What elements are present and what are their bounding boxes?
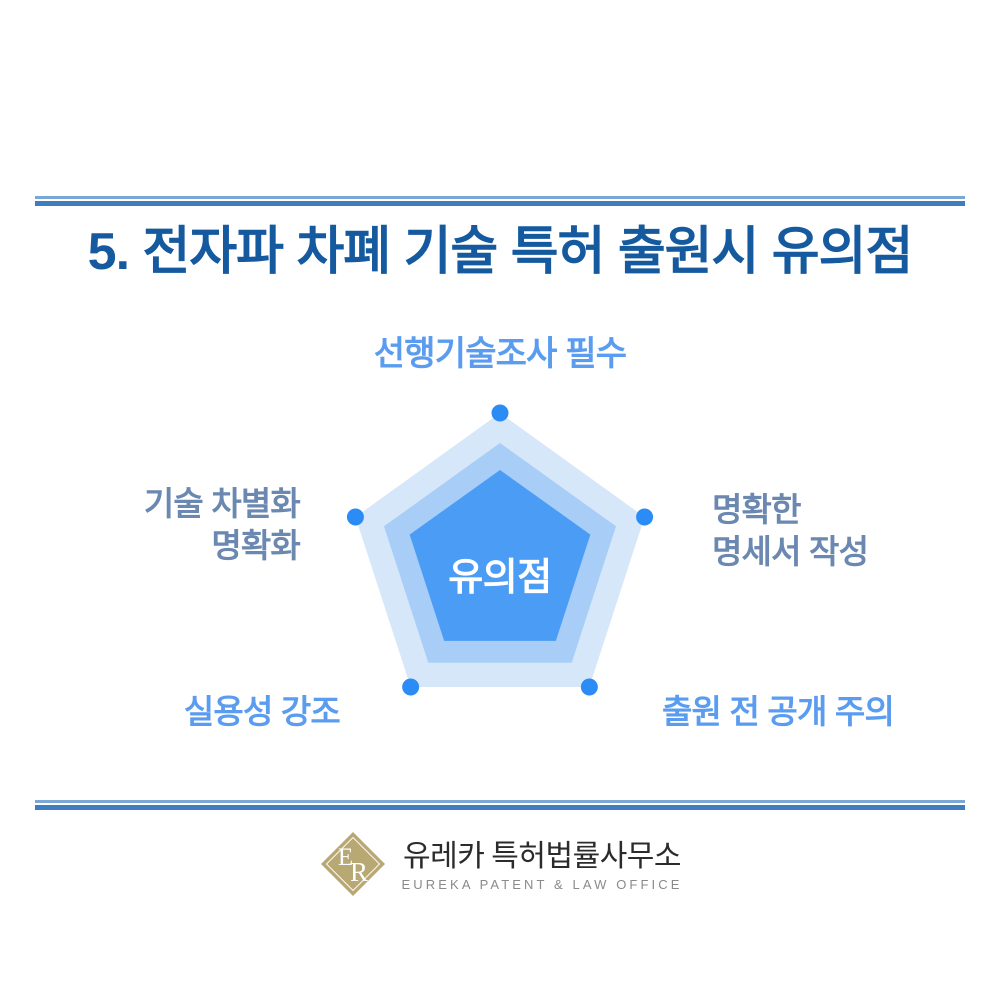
company-name-en: EUREKA PATENT & LAW OFFICE xyxy=(402,878,683,891)
footer-logo: E R 유레카 특허법률사무소 EUREKA PATENT & LAW OFFI… xyxy=(0,824,1000,904)
divider-bottom xyxy=(35,800,965,812)
eureka-diamond-logo-icon: E R xyxy=(318,829,388,899)
vertex-label-tech-differentiation: 기술 차별화 명확화 xyxy=(20,483,300,567)
divider-top-thick-rule xyxy=(35,201,965,206)
divider-top xyxy=(35,196,965,208)
company-name-ko: 유레카 특허법률사무소 xyxy=(403,840,681,873)
vertex-dot-top[interactable] xyxy=(492,405,509,422)
vertex-dot-bottom-left[interactable] xyxy=(402,678,419,695)
vertex-label-practicality-emphasis: 실용성 강조 xyxy=(30,691,340,733)
vertex-dot-left-upper[interactable] xyxy=(347,509,364,526)
page-title: 5. 전자파 차폐 기술 특허 출원시 유의점 xyxy=(0,222,1000,283)
logo-text-block: 유레카 특허법률사무소 EUREKA PATENT & LAW OFFICE xyxy=(402,838,683,891)
monogram-letter-r: R xyxy=(350,857,368,887)
vertex-dot-right-upper[interactable] xyxy=(636,509,653,526)
vertex-dot-bottom-right[interactable] xyxy=(581,678,598,695)
vertex-label-prior-art-search: 선행기술조사 필수 xyxy=(250,333,750,377)
slide-canvas: 5. 전자파 차폐 기술 특허 출원시 유의점 유의점 선행기술조사 필수 명확… xyxy=(0,0,1000,1000)
vertex-label-predisclosure-caution: 출원 전 공개 주의 xyxy=(662,691,982,733)
diamond-monogram-icon: E R xyxy=(318,829,388,899)
divider-bottom-thick-rule xyxy=(35,805,965,810)
vertex-label-clear-specification: 명확한 명세서 작성 xyxy=(712,489,992,573)
